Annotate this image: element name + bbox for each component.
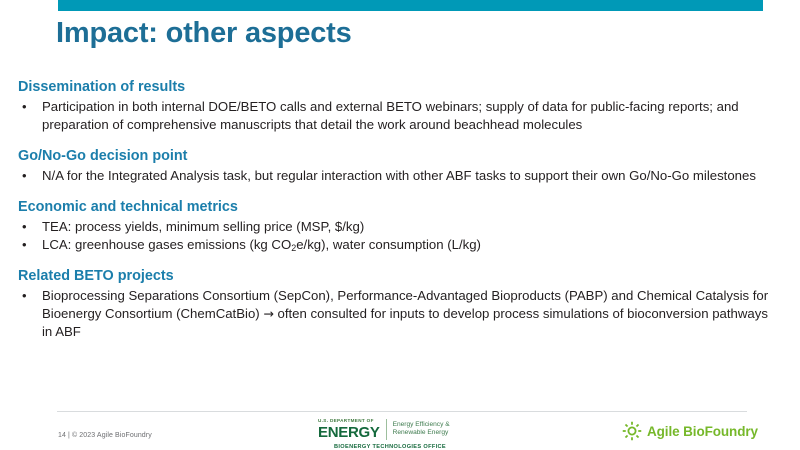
section-heading: Go/No-Go decision point	[18, 147, 782, 166]
bullet-text: TEA: process yields, minimum selling pri…	[42, 218, 782, 236]
slide-canvas: Impact: other aspects Dissemination of r…	[0, 0, 800, 450]
bioenergy-technologies-office-label: BIOENERGY TECHNOLOGIES OFFICE	[334, 444, 446, 450]
doe-logo-main: U.S. DEPARTMENT OF ENERGY Energy Efficie…	[318, 419, 450, 440]
bullet-marker: •	[18, 287, 42, 305]
bullet-text-pre: LCA: greenhouse gases emissions (kg CO	[42, 237, 291, 252]
list-item: • TEA: process yields, minimum selling p…	[18, 218, 782, 236]
eere-text-block: Energy Efficiency & Renewable Energy	[393, 419, 450, 440]
doe-logo-divider	[386, 419, 387, 440]
agile-biofoundry-wordmark: Agile BioFoundry	[647, 424, 758, 439]
slide-content: Dissemination of results • Participation…	[18, 78, 782, 347]
footer-divider	[57, 411, 747, 412]
bullet-text: Bioprocessing Separations Consortium (Se…	[42, 287, 782, 341]
section-related-beto-projects: Related BETO projects • Bioprocessing Se…	[18, 267, 782, 341]
section-economic-and-technical-metrics: Economic and technical metrics • TEA: pr…	[18, 198, 782, 254]
section-heading: Related BETO projects	[18, 267, 782, 286]
section-go-no-go-decision-point: Go/No-Go decision point • N/A for the In…	[18, 147, 782, 185]
bullet-text: Participation in both internal DOE/BETO …	[42, 98, 782, 134]
list-item: • LCA: greenhouse gases emissions (kg CO…	[18, 236, 782, 254]
bullet-marker: •	[18, 236, 42, 254]
bullet-marker: •	[18, 167, 42, 185]
footer-page-credit: 14 | © 2023 Agile BioFoundry	[58, 432, 152, 439]
list-item: • N/A for the Integrated Analysis task, …	[18, 167, 782, 185]
doe-wordmark-block: U.S. DEPARTMENT OF ENERGY	[318, 419, 386, 440]
bullet-text: LCA: greenhouse gases emissions (kg CO2e…	[42, 236, 782, 254]
bullet-text-post: e/kg), water consumption (L/kg)	[296, 237, 481, 252]
bullet-marker: •	[18, 98, 42, 116]
doe-department-label: U.S. DEPARTMENT OF	[318, 419, 380, 424]
section-heading: Dissemination of results	[18, 78, 782, 97]
bullet-text: N/A for the Integrated Analysis task, bu…	[42, 167, 782, 185]
page-title: Impact: other aspects	[56, 18, 352, 50]
right-arrow-icon: →	[263, 306, 273, 321]
list-item: • Bioprocessing Separations Consortium (…	[18, 287, 782, 341]
agile-biofoundry-logo: Agile BioFoundry	[622, 421, 758, 441]
eere-line-2: Renewable Energy	[393, 429, 450, 438]
section-dissemination-of-results: Dissemination of results • Participation…	[18, 78, 782, 134]
list-item: • Participation in both internal DOE/BET…	[18, 98, 782, 134]
doe-eere-logo: U.S. DEPARTMENT OF ENERGY Energy Efficie…	[318, 419, 450, 450]
eere-line-1: Energy Efficiency &	[393, 421, 450, 430]
section-heading: Economic and technical metrics	[18, 198, 782, 217]
top-accent-bar	[58, 0, 763, 11]
bullet-marker: •	[18, 218, 42, 236]
gear-sun-icon	[622, 421, 642, 441]
doe-energy-wordmark: ENERGY	[318, 425, 380, 440]
